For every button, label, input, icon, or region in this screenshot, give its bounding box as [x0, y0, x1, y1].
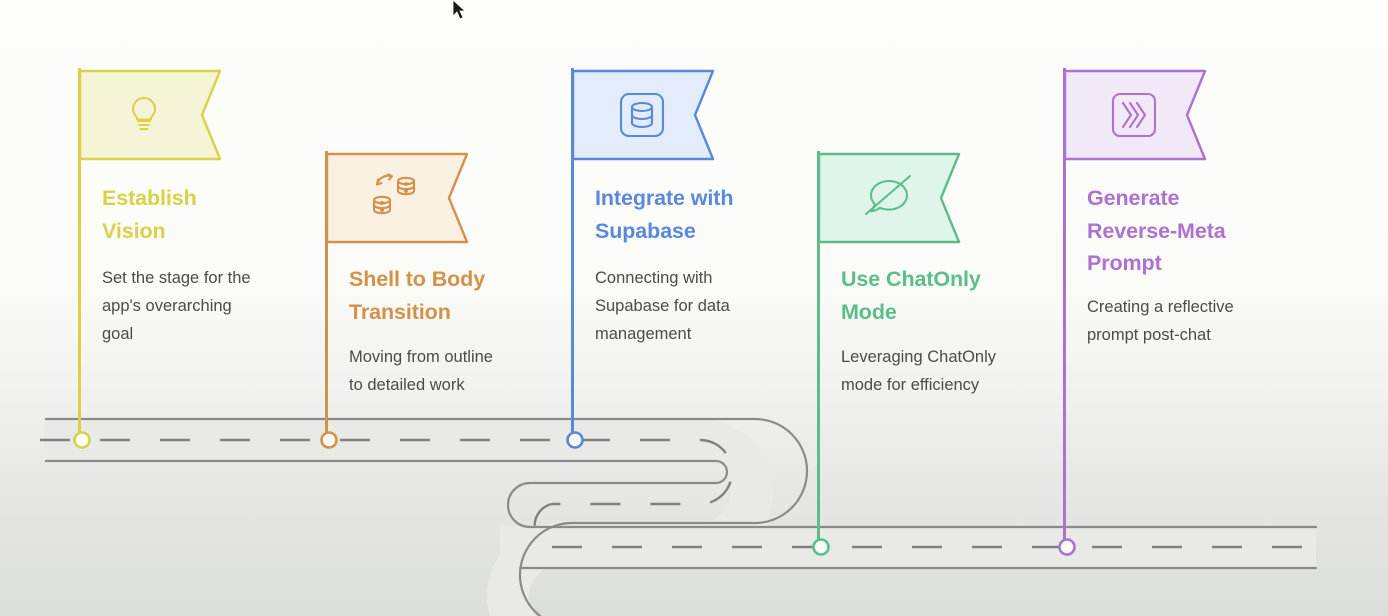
milestone-description: Connecting with Supabase for data manage…: [595, 264, 730, 348]
milestone-title: Shell to Body Transition: [349, 263, 485, 328]
milestone-generate-reverse-meta-prompt[interactable]: Generate Reverse-Meta PromptCreating a r…: [1063, 68, 1268, 557]
flag-shape: [573, 71, 713, 159]
milestone-title: Establish Vision: [102, 182, 197, 247]
flag-shape: [819, 154, 959, 242]
milestone-title: Integrate with Supabase: [595, 182, 733, 247]
milestone-use-chatonly-mode[interactable]: Use ChatOnly ModeLeveraging ChatOnly mod…: [817, 151, 1022, 557]
milestone-description: Leveraging ChatOnly mode for efficiency: [841, 343, 996, 399]
milestone-flag[interactable]: [571, 68, 716, 162]
road-uturn-left: [508, 544, 560, 616]
road-edge: [716, 461, 727, 483]
flag-shape: [327, 154, 467, 242]
road-uturn-right: [560, 440, 752, 544]
milestone-flag[interactable]: [817, 151, 962, 245]
milestone-flag[interactable]: [325, 151, 470, 245]
mouse-pointer-icon: [452, 0, 468, 22]
road-edge: [508, 483, 530, 527]
milestone-shell-to-body-transition[interactable]: Shell to Body TransitionMoving from outl…: [325, 151, 530, 450]
milestone-title: Generate Reverse-Meta Prompt: [1087, 182, 1226, 280]
milestone-description: Moving from outline to detailed work: [349, 343, 493, 399]
flag-shape: [80, 71, 220, 159]
roadmap-diagram: Establish VisionSet the stage for the ap…: [0, 0, 1388, 616]
milestone-establish-vision[interactable]: Establish VisionSet the stage for the ap…: [78, 68, 283, 450]
milestone-description: Set the stage for the app's overarching …: [102, 264, 251, 348]
road-center-dash: [535, 504, 552, 547]
milestone-flag[interactable]: [78, 68, 223, 162]
road-edge: [520, 523, 572, 616]
milestone-description: Creating a reflective prompt post-chat: [1087, 293, 1234, 349]
milestone-integrate-with-supabase[interactable]: Integrate with SupabaseConnecting with S…: [571, 68, 776, 450]
flag-shape: [1065, 71, 1205, 159]
milestone-flag[interactable]: [1063, 68, 1208, 162]
milestone-title: Use ChatOnly Mode: [841, 263, 981, 328]
